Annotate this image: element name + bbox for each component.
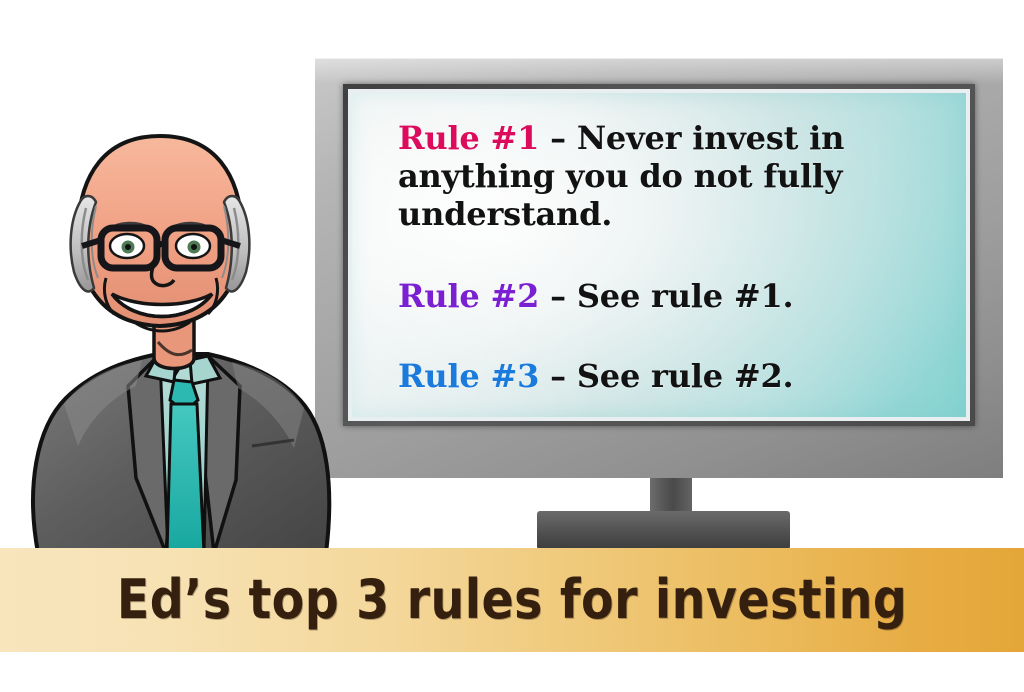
necktie xyxy=(167,380,204,553)
monitor-stand-base xyxy=(537,511,790,548)
person-caricature xyxy=(8,128,338,553)
rule-3-body: – See rule #2. xyxy=(539,357,793,395)
rule-item-3: Rule #3 – See rule #2. xyxy=(398,357,948,395)
rule-1-label: Rule #1 xyxy=(398,119,539,157)
rule-item-1: Rule #1 – Never invest in anything you d… xyxy=(398,119,948,233)
rules-list: Rule #1 – Never invest in anything you d… xyxy=(398,119,948,395)
title-banner: Ed’s top 3 rules for investing xyxy=(0,548,1024,652)
person-illustration xyxy=(8,128,338,553)
rule-item-2: Rule #2 – See rule #1. xyxy=(398,277,948,315)
slide-canvas: Rule #1 – Never invest in anything you d… xyxy=(0,0,1024,692)
banner-title-text: Ed’s top 3 rules for investing xyxy=(117,573,907,627)
bezel-highlight xyxy=(315,58,1003,84)
rule-2-body: – See rule #1. xyxy=(539,277,793,315)
monitor-screen: Rule #1 – Never invest in anything you d… xyxy=(352,93,966,417)
screen-frame: Rule #1 – Never invest in anything you d… xyxy=(348,89,970,421)
computer-monitor: Rule #1 – Never invest in anything you d… xyxy=(315,58,1003,478)
rule-2-label: Rule #2 xyxy=(398,277,539,315)
rule-3-label: Rule #3 xyxy=(398,357,539,395)
